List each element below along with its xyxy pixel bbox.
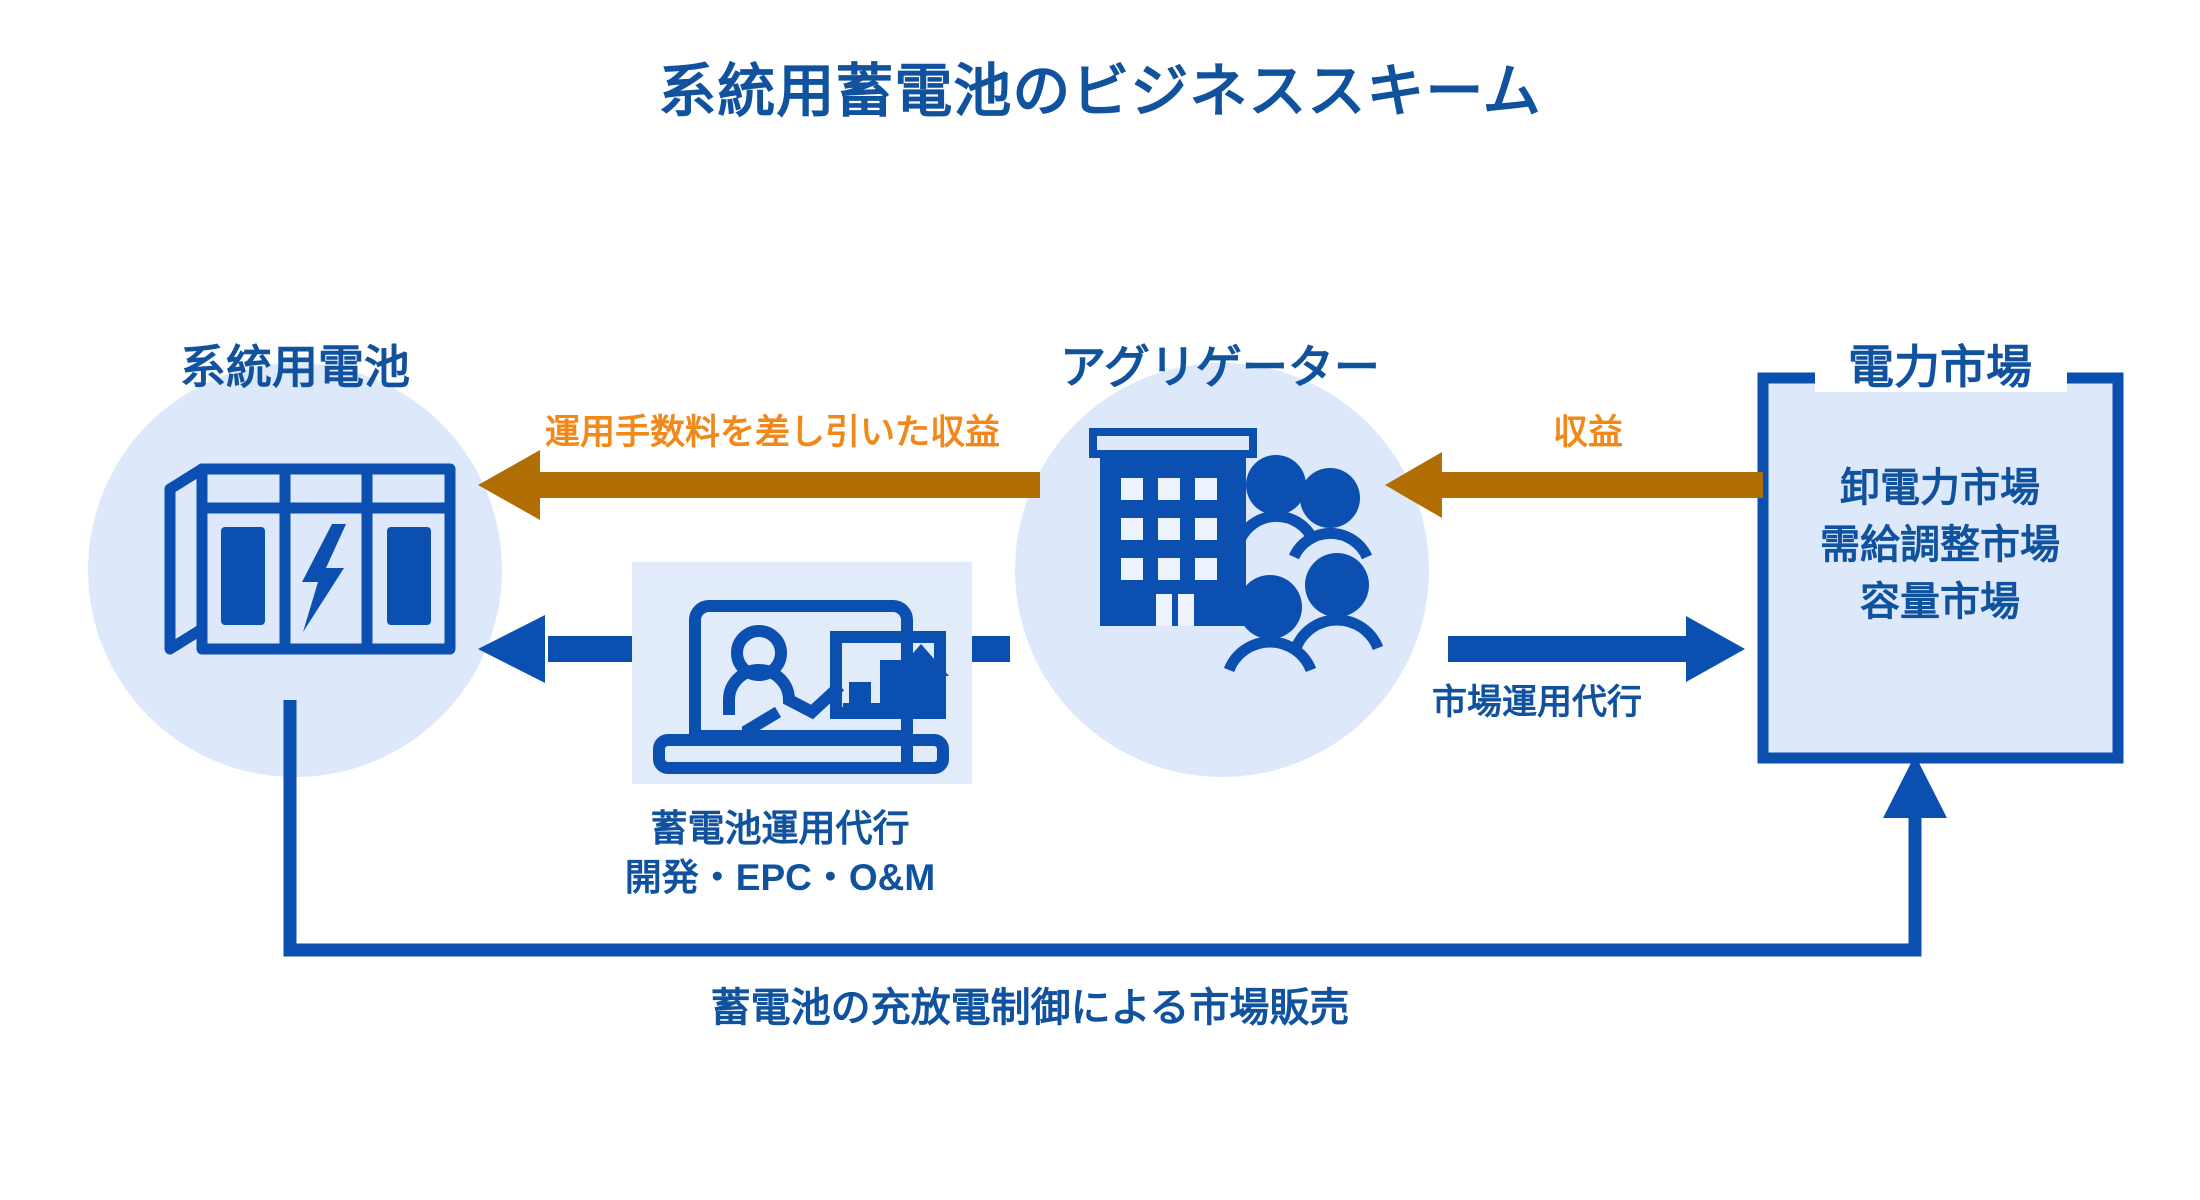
diagram-canvas: 系統用蓄電池のビジネススキーム 系統用電池 アグリゲーター 電力市場 卸電力市場… — [0, 0, 2200, 1200]
office-building-icon — [1093, 432, 1253, 626]
battery-charge-discharge-sales-label: 蓄電池の充放電制御による市場販売 — [530, 985, 1530, 1032]
page-title: 系統用蓄電池のビジネススキーム — [0, 58, 2200, 126]
revenue-arrow-shaft — [1430, 472, 1763, 498]
market-item-wholesale: 卸電力市場 — [1740, 460, 2140, 517]
fee-deducted-revenue-label: 運用手数料を差し引いた収益 — [545, 412, 1000, 453]
service-arrow-shaft — [548, 636, 640, 662]
market-item-capacity: 容量市場 — [1740, 574, 2140, 631]
fee-revenue-arrow-shaft — [530, 472, 1040, 498]
revenue-label: 収益 — [1553, 412, 1623, 453]
service-caption-line2: 開発・EPC・O&M — [570, 854, 990, 903]
service-caption-line1: 蓄電池運用代行 — [570, 805, 990, 854]
market-node-title: 電力市場 — [1740, 340, 2140, 394]
service-caption: 蓄電池運用代行 開発・EPC・O&M — [570, 805, 990, 903]
market-item-balancing: 需給調整市場 — [1740, 517, 2140, 574]
market-items-list: 卸電力市場 需給調整市場 容量市場 — [1740, 460, 2140, 630]
market-ops-arrow-head — [1686, 616, 1745, 682]
bottom-flow-arrowhead — [1883, 755, 1947, 818]
market-ops-arrow-shaft — [1448, 636, 1696, 662]
battery-node-label: 系統用電池 — [95, 340, 495, 394]
market-operation-agency-label: 市場運用代行 — [1432, 682, 1642, 723]
aggregator-node-label: アグリゲーター — [1020, 340, 1420, 394]
